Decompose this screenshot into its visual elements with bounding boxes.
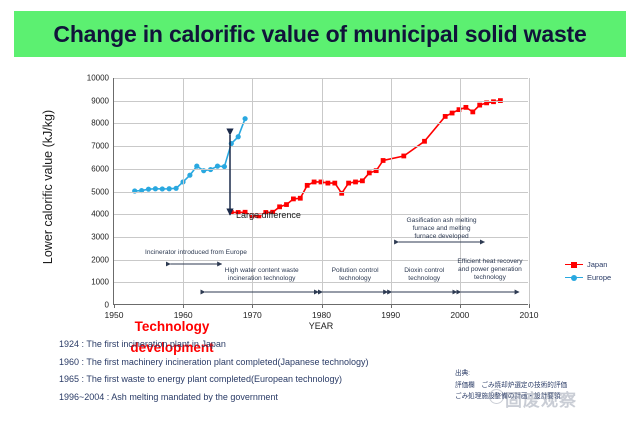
footnote-item: 1965 : The first waste to energy plant c… [59, 371, 419, 389]
watermark-text: 固废观察 [505, 386, 577, 411]
legend-marker-japan [565, 260, 583, 270]
source-heading: 出典: [455, 368, 567, 380]
tech-dev-line1: Technology [135, 319, 210, 334]
footnote-item: 1924 : The first incineration plant in J… [59, 336, 419, 354]
legend-item-japan: Japan [565, 258, 611, 271]
legend-item-europe: Europe [565, 271, 611, 284]
phase-label: Dioxin controltechnology [404, 267, 444, 283]
footnote-item: 1996~2004 : Ash melting mandated by the … [59, 389, 419, 407]
legend-marker-europe [565, 273, 583, 283]
phase-label: High water content wasteincineration tec… [225, 267, 299, 283]
chart-container: Lower calorific value (kJ/kg) YEAR 01000… [0, 62, 640, 332]
chart-legend: Japan Europe [565, 258, 611, 284]
footnote-list: 1924 : The first incineration plant in J… [59, 336, 419, 406]
annotation-arrow-layer [0, 62, 640, 332]
phase-label: Pollution controltechnology [332, 267, 379, 283]
footnote-item: 1960 : The first machinery incineration … [59, 354, 419, 372]
page-title: Change in calorific value of municipal s… [53, 21, 586, 48]
phase-label: Efficient heat recoveryand power generat… [457, 258, 522, 281]
large-difference-label: Large difference [236, 210, 301, 220]
phase-label: Incinerator introduced from Europe [145, 249, 247, 257]
watermark-badge-icon [489, 389, 504, 404]
phase-label: Gasification ash meltingfurnace and melt… [407, 217, 477, 240]
legend-label-europe: Europe [587, 273, 611, 282]
title-banner: Change in calorific value of municipal s… [14, 11, 626, 57]
legend-label-japan: Japan [587, 260, 607, 269]
